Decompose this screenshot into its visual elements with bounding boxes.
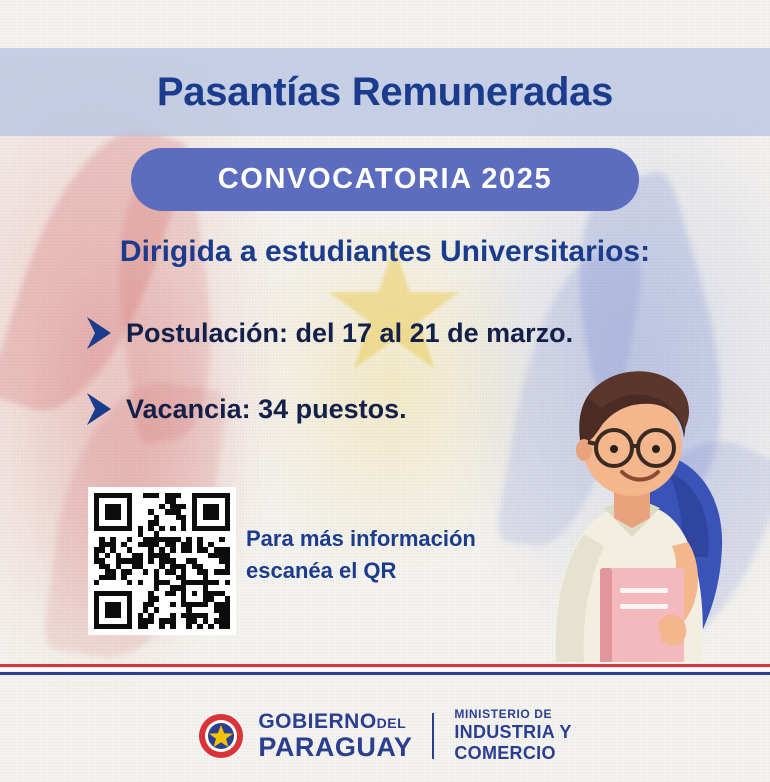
qr-caption: Para más información escanéa el QR xyxy=(246,523,476,587)
gobierno-line-1: GOBIERNODEL xyxy=(258,711,412,732)
ministerio-line-2: INDUSTRIA Y xyxy=(454,722,571,743)
stripe-white xyxy=(0,668,770,671)
arrow-right-icon xyxy=(86,392,112,426)
qr-code-icon[interactable] xyxy=(88,487,236,635)
title-band: Pasantías Remuneradas xyxy=(0,48,770,136)
ministerio-wordmark: MINISTERIO DE INDUSTRIA Y COMERCIO xyxy=(454,707,571,764)
bullet-label-vacancia: Vacancia: 34 puestos. xyxy=(126,394,407,425)
ministerio-line-1: MINISTERIO DE xyxy=(454,707,571,721)
subtitle: Dirigida a estudiantes Universitarios: xyxy=(0,235,770,269)
footer-logo-block: GOBIERNODEL PARAGUAY MINISTERIO DE INDUS… xyxy=(0,707,770,764)
qr-caption-line-1: Para más información xyxy=(246,523,476,555)
paraguay-seal-icon xyxy=(198,713,244,759)
gobierno-word: GOBIERNO xyxy=(258,710,376,733)
page-title: Pasantías Remuneradas xyxy=(157,70,613,115)
stripe-blue xyxy=(0,672,770,675)
footer-divider xyxy=(432,713,434,759)
bullet-item-vacancia: Vacancia: 34 puestos. xyxy=(86,392,407,426)
flag-stripes xyxy=(0,664,770,678)
convocatoria-label: CONVOCATORIA 2025 xyxy=(218,163,552,196)
poster-canvas: ★ Pasantías Remuneradas CONVOCATORIA 202… xyxy=(0,0,770,782)
arrow-right-icon xyxy=(86,316,112,350)
qr-caption-line-2: escanéa el QR xyxy=(246,555,476,587)
qr-module xyxy=(225,624,230,629)
gobierno-del-word: DEL xyxy=(377,715,407,731)
stripe-red xyxy=(0,664,770,667)
student-with-backpack-illustration xyxy=(492,332,752,662)
ministerio-line-3: COMERCIO xyxy=(454,743,571,764)
gobierno-wordmark: GOBIERNODEL PARAGUAY xyxy=(258,711,412,761)
paraguay-word: PARAGUAY xyxy=(258,734,412,761)
convocatoria-pill: CONVOCATORIA 2025 xyxy=(131,148,639,211)
